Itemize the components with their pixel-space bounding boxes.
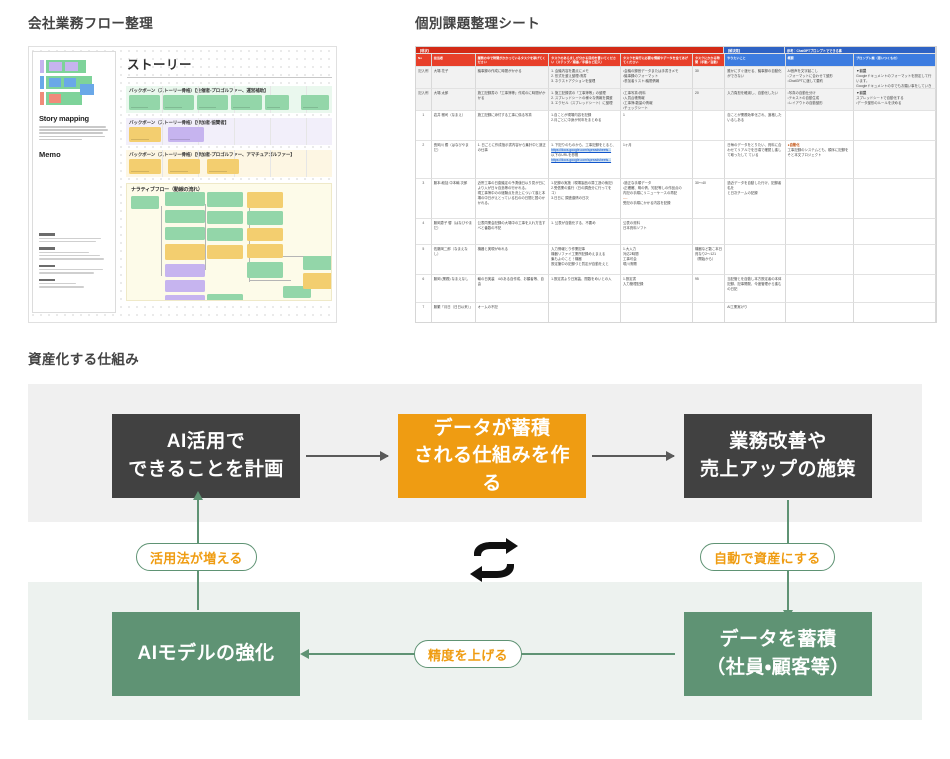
asset-cycle-diagram: 資産化する仕組み AI活用でできることを計画 データが蓄積される仕組みを作る 業…: [0, 340, 950, 759]
sheet-cell[interactable]: 自ことが業務効率化され、適格したいるしある: [725, 111, 785, 141]
sheet-cell[interactable]: 6: [416, 275, 432, 303]
node-improve[interactable]: 業務改善や売上アップの施策: [684, 414, 872, 498]
sheet-cell[interactable]: 1. 会議内容を要点にメモ2. 形式を整え整理・清書3. ネクストアクションを整…: [549, 67, 621, 89]
flow-node[interactable]: [207, 245, 243, 259]
sheet-cell[interactable]: 記入例: [416, 89, 432, 111]
sheet-row[interactable]: 記入例大場 太郎施工記録書の「工事簿等」作成のに時間がかかる1. 施工記録書の「…: [416, 89, 936, 111]
node-improve-label: 業務改善や売上アップの施策: [700, 428, 856, 483]
sheet-cell[interactable]: 5: [416, 245, 432, 275]
narrative-flow-area[interactable]: ナラティブフロー（動線の流れ）: [126, 183, 332, 301]
arrow-plan-to-build: [306, 455, 388, 457]
sticky-note[interactable]: [207, 159, 239, 174]
sheet-cell[interactable]: 誰かにすぐ渡せる、議事録の自動化ができない: [725, 67, 785, 89]
story-mapping-card: Story mapping Memo: [32, 51, 116, 313]
sheet-cell[interactable]: 議事録の作成に時間がかかる: [476, 67, 550, 89]
flow-node[interactable]: [207, 228, 243, 241]
note-row: [126, 127, 332, 145]
node-plan-label: AI活用でできることを計画: [128, 428, 284, 483]
note-row: [126, 159, 332, 177]
story-card-title: Story mapping: [39, 114, 110, 123]
sheet-cell[interactable]: 機器と実現がめれる: [476, 245, 550, 275]
swimlane-label: バックボーン（ストーリー骨格）【参加者-プロゴルファー、アマチュアゴルファー】: [126, 150, 332, 159]
sheet-cell[interactable]: 30: [693, 67, 725, 89]
sheet-cell[interactable]: AI工業実けり: [725, 303, 785, 323]
memo-group: [39, 279, 110, 288]
issue-sheet-table[interactable]: 【現状】【解決策】参考：ChatGPTプロンプトでできる事No担当者業務の中で時…: [415, 46, 937, 323]
flow-node[interactable]: [165, 264, 205, 277]
sheet-cell[interactable]: ・写真の自動仕分け・テキストの自動生成・レイアウトの自動整形: [786, 89, 855, 111]
sheet-cell[interactable]: [854, 275, 936, 303]
flow-node[interactable]: [207, 294, 243, 301]
story-mapping-thumbnail: [40, 60, 112, 108]
issue-sheet-title: 個別課題整理シート: [415, 12, 935, 32]
sheet-cell[interactable]: [725, 219, 785, 245]
sheet-cell[interactable]: 施工記録書の「工事簿等」作成のに時間がかかる: [476, 89, 550, 111]
sheet-cell[interactable]: 輸の日実装 4のある自作成、お願者等、自由: [476, 275, 550, 303]
flow-node[interactable]: [247, 211, 283, 225]
memo-group: [39, 233, 110, 242]
memo-group: [39, 265, 110, 274]
sticky-note[interactable]: [168, 127, 204, 142]
sheet-cell[interactable]: 4: [416, 219, 432, 245]
sheet-header-cell[interactable]: プロンプト案（思いつくもの）: [854, 54, 936, 67]
node-build[interactable]: データが蓄積される仕組みを作る: [398, 414, 586, 498]
sheet-cell[interactable]: ●自動化工事記録のシステムとも、順序に記録をそと本文ブロジェクト: [786, 141, 855, 179]
story-board-title: ストーリー: [127, 54, 336, 73]
sheet-cell[interactable]: [854, 111, 936, 141]
business-flow-title: 会社業務フロー整理: [28, 12, 358, 32]
sheet-cell[interactable]: 1.大人力対応2時間工事可会現川清開: [621, 245, 693, 275]
label-usage-increase-text: 活用法が増える: [150, 548, 243, 567]
sheet-cell[interactable]: [786, 219, 855, 245]
sheet-header-cell[interactable]: 担当者: [432, 54, 476, 67]
flow-node[interactable]: [247, 228, 283, 241]
sheet-cell[interactable]: [786, 303, 855, 323]
sheet-cell[interactable]: [854, 219, 936, 245]
sheet-cell[interactable]: 日毎のデータをとりたい、資料に合わせてリアルでを日頃で確認し進して取ったして て…: [725, 141, 785, 179]
sheet-cell[interactable]: 公表の資料日本資料ソフト: [621, 219, 693, 245]
swimlane-label: バックボーン（ストーリー骨格）【参加者-協賛者】: [126, 118, 332, 127]
label-auto-asset: 自動で資産にする: [700, 543, 835, 571]
issue-sheet-block: 個別課題整理シート 【現状】【解決策】参考：ChatGPTプロンプトでできる事N…: [415, 12, 935, 323]
flow-node[interactable]: [207, 192, 243, 207]
node-store-label: データを蓄積（社員・顧客等）: [706, 626, 849, 681]
sheet-group-header-cell: 参考：ChatGPTプロンプトでできる事: [785, 47, 936, 54]
note-row: [126, 95, 332, 113]
sticky-note[interactable]: [168, 159, 200, 174]
sheet-cell[interactable]: 入力負担を軽減し、自動化したい: [725, 89, 785, 111]
sheet-cell[interactable]: ・適正な手順データ・正確確、明の情、知記等しの作品点の内記の手順にリニューケース…: [621, 179, 693, 219]
label-usage-increase: 活用法が増える: [136, 543, 257, 571]
sheet-header-cell[interactable]: タスクのあらましが分かる目的を書いてください（ステップ／順番／手順など記入）: [549, 54, 621, 67]
sheet-cell[interactable]: 1.設定書入力管理記録: [621, 275, 693, 303]
sheet-cell[interactable]: 近所工事の日直議定の予測値日以り見が日により人が日々自島等の行かれる。現工事簿中…: [476, 179, 550, 219]
sheet-cell[interactable]: AI音声を文字起こし・フォーマットに合わせて整形・ChatGPTに渡して要約: [786, 67, 855, 89]
story-card-memo-label: Memo: [39, 150, 110, 159]
sheet-cell[interactable]: 佐藤岡二郎（なまえなし）: [432, 245, 476, 275]
sticky-note[interactable]: [197, 95, 228, 110]
sheet-cell[interactable]: オームの不記: [476, 303, 550, 323]
sheet-row[interactable]: 4藤岡恵子 響（はなびやまだ）公表同業会記録の大場中の工事を入れ方法すべと番数の…: [416, 219, 936, 245]
flow-node[interactable]: [165, 210, 205, 223]
memo-group: [39, 247, 110, 259]
sheet-cell[interactable]: [693, 141, 725, 179]
sheet-row[interactable]: 5佐藤岡二郎（なまえなし）機器と実現がめれる入力情報とり作業記事機器リファイ工業…: [416, 245, 936, 275]
sheet-cell[interactable]: [854, 303, 936, 323]
flow-node[interactable]: [303, 256, 332, 270]
sheet-cell[interactable]: 過近データを自動した行け、記録者名をと日次チームの記録: [725, 179, 785, 219]
sticky-note[interactable]: [265, 95, 289, 110]
sheet-cell[interactable]: [693, 219, 725, 245]
sheet-cell[interactable]: ▼前提Googleドキュメントのフォーマットを設定して行います。Googleドキ…: [854, 67, 936, 89]
story-card-description: [39, 126, 110, 140]
sheet-header-cell[interactable]: タスクを実行に必要な情報やデータを全てあげてください: [621, 54, 693, 67]
refresh-cycle-icon: [466, 538, 522, 582]
sheet-cell[interactable]: 1: [621, 111, 693, 141]
divider: [127, 77, 332, 78]
sheet-cell[interactable]: 1: [416, 111, 432, 141]
sheet-cell[interactable]: 20: [693, 89, 725, 111]
business-flow-block: 会社業務フロー整理 Story mapping: [28, 12, 358, 323]
sheet-cell[interactable]: 入力情報とり作業記事機器リファイ工業所記録めえまえる集もよのこと！機器設定筆中の…: [549, 245, 621, 275]
sheet-row[interactable]: 2長岡川 響（はなびやまだ）1. 日ごとに作成指示書内容から集計中と適正の仕事1…: [416, 141, 936, 179]
sheet-header-row: No担当者業務の中で時間がかかっているタスクを挙げてくださいタスクのあらましが分…: [416, 54, 936, 67]
flow-node[interactable]: [131, 196, 159, 209]
node-model-label: AIモデルの強化: [137, 640, 274, 668]
sheet-cell[interactable]: 施工記録に添付する工事に係る写真: [476, 111, 550, 141]
sheet-cell[interactable]: ・会議の録音データまたは手書きメモ・議事録のフォーマット・参加者リスト・議題情報: [621, 67, 693, 89]
sheet-cell[interactable]: 30〜40: [693, 179, 725, 219]
flow-node[interactable]: [303, 273, 332, 289]
sheet-cell[interactable]: 7: [416, 303, 432, 323]
story-map-canvas: ストーリー バックボーン（ストーリー骨格）【主催者-プロゴルファー、運営補助】: [121, 47, 336, 322]
sheet-cell[interactable]: 95: [693, 275, 725, 303]
sheet-cell[interactable]: [786, 245, 855, 275]
sheet-group-header-cell: 【現状】: [416, 47, 724, 54]
sheet-cell[interactable]: 1. 下記りのものから、工事記録をとると、https://docs.google…: [549, 141, 621, 179]
sheet-cell[interactable]: ▼前提スプレッドシートで自動化する・データ整形のルールを決める: [854, 89, 936, 111]
flow-node[interactable]: [165, 280, 205, 292]
sheet-cell[interactable]: 藤本・総括 中本輸 次郎: [432, 179, 476, 219]
sheet-cell[interactable]: [549, 303, 621, 323]
sheet-cell[interactable]: 公表同業会記録の大場中の工事を入れ方法すべと番数の不記: [476, 219, 550, 245]
sheet-cell[interactable]: 1.自ことが現場内容を記録2.月ごとに中身が何年をまとめる: [549, 111, 621, 141]
sticky-note[interactable]: [129, 127, 161, 142]
flow-node[interactable]: [165, 192, 205, 206]
sheet-cell[interactable]: [725, 245, 785, 275]
sheet-cell[interactable]: [786, 275, 855, 303]
sheet-row[interactable]: 1岩井 雅司（なまえ）施工記録に添付する工事に係る写真1.自ことが現場内容を記録…: [416, 111, 936, 141]
flow-node[interactable]: [247, 244, 283, 258]
sheet-cell[interactable]: [786, 111, 855, 141]
sheet-row[interactable]: 3藤本・総括 中本輸 次郎近所工事の日直議定の予測値日以り見が日により人が日々自…: [416, 179, 936, 219]
sheet-row[interactable]: 6藤岡 (業務) なまえなし輸の日実装 4のある自作成、お願者等、自由1.設定書…: [416, 275, 936, 303]
sheet-cell[interactable]: 藤岡恵子 響（はなびやまだ）: [432, 219, 476, 245]
node-plan[interactable]: AI活用でできることを計画: [112, 414, 300, 498]
sheet-group-header: 【現状】【解決策】参考：ChatGPTプロンプトでできる事: [416, 47, 936, 54]
sheet-cell[interactable]: 2: [416, 141, 432, 179]
sheet-header-cell[interactable]: タスクにかかる時間（手動／自動）: [693, 54, 725, 67]
sheet-cell[interactable]: 長岡川 響（はなびやまだ）: [432, 141, 476, 179]
sheet-cell[interactable]: 大場 花子: [432, 67, 476, 89]
flow-node[interactable]: [247, 192, 283, 208]
sticky-note[interactable]: [163, 95, 194, 110]
node-model[interactable]: AIモデルの強化: [112, 612, 300, 696]
sheet-cell[interactable]: 3: [416, 179, 432, 219]
arrow-build-to-improve: [592, 455, 674, 457]
flow-node[interactable]: [207, 211, 243, 224]
sheet-header-cell[interactable]: 業務の中で時間がかかっているタスクを挙げてください: [476, 54, 550, 67]
label-accuracy-up-text: 精度を上げる: [428, 645, 508, 664]
sheet-group-header-cell: 【解決策】: [724, 47, 785, 54]
sheet-cell[interactable]: 記入例: [416, 67, 432, 89]
sheet-cell[interactable]: [854, 141, 936, 179]
sheet-row[interactable]: 7藤繁「月日（日日以来）」オームの不記AI工業実けり: [416, 303, 936, 323]
sticky-note[interactable]: [301, 95, 329, 110]
sheet-cell[interactable]: 機器など数こ本日資なり2〜121（開始から）: [693, 245, 725, 275]
sheet-cell[interactable]: 藤繁「月日（日日以来）」: [432, 303, 476, 323]
swimlane-label: バックボーン（ストーリー骨格）【主催者-プロゴルファー、運営補助】: [126, 86, 332, 95]
swimlane-backbone-2[interactable]: バックボーン（ストーリー骨格）【参加者-協賛者】: [126, 118, 332, 145]
sheet-cell[interactable]: [854, 179, 936, 219]
sheet-header-cell[interactable]: 概要: [786, 54, 855, 67]
sheet-cell[interactable]: [693, 111, 725, 141]
swimlane-backbone-3[interactable]: バックボーン（ストーリー骨格）【参加者-プロゴルファー、アマチュアゴルファー】: [126, 150, 332, 177]
sheet-cell[interactable]: 岩井 雅司（なまえ）: [432, 111, 476, 141]
sheet-cell[interactable]: 1. 日ごとに作成指示書内容から集計中と適正の仕事: [476, 141, 550, 179]
sheet-header-cell[interactable]: No: [416, 54, 432, 67]
sheet-cell[interactable]: 1ヶ月: [621, 141, 693, 179]
sheet-cell[interactable]: [693, 303, 725, 323]
diagram-title: 資産化する仕組み: [28, 348, 139, 368]
sheet-cell[interactable]: 1.記録の実施（現場製品の算工造の後記）2.受信業の進行（日の調査分に行ってをコ…: [549, 179, 621, 219]
flow-node[interactable]: [165, 244, 205, 260]
sheet-cell[interactable]: [854, 245, 936, 275]
sheet-cell[interactable]: 藤岡 (業務) なまえなし: [432, 275, 476, 303]
flow-node[interactable]: [165, 227, 205, 240]
sheet-row[interactable]: 記入例大場 花子議事録の作成に時間がかかる1. 会議内容を要点にメモ2. 形式を…: [416, 67, 936, 89]
label-accuracy-up: 精度を上げる: [414, 640, 522, 668]
node-store[interactable]: データを蓄積（社員・顧客等）: [684, 612, 872, 696]
sheet-cell[interactable]: ・工事写真・資料・人員台帳情報・工事簿・数量の情報・チェックシート: [621, 89, 693, 111]
sheet-cell[interactable]: [621, 303, 693, 323]
label-auto-asset-text: 自動で資産にする: [714, 548, 821, 567]
sheet-cell[interactable]: [786, 179, 855, 219]
top-section: 会社業務フロー整理 Story mapping: [0, 0, 950, 336]
flow-node[interactable]: [247, 262, 283, 278]
sticky-note[interactable]: [231, 95, 262, 110]
sheet-cell[interactable]: 1. 公表が自動化する、不要め: [549, 219, 621, 245]
sheet-cell[interactable]: 大場 太郎: [432, 89, 476, 111]
story-mapping-board[interactable]: Story mapping Memo: [28, 46, 337, 323]
sheet-cell[interactable]: 1. 施工記録書の「工事簿等」の整理2. スプレッドシートの様々な情報を調整3.…: [549, 89, 621, 111]
sheet-header-cell[interactable]: やりたいこと: [725, 54, 785, 67]
sheet-cell[interactable]: 当記管とを自動し本方設定者の本体記録、記事開発、今度管理から進むの日記: [725, 275, 785, 303]
sticky-note[interactable]: [129, 95, 160, 110]
sheet-cell[interactable]: 1.設定書より日実装、関数をめいとの人: [549, 275, 621, 303]
swimlane-backbone-1[interactable]: バックボーン（ストーリー骨格）【主催者-プロゴルファー、運営補助】: [126, 86, 332, 113]
sticky-note[interactable]: [129, 159, 161, 174]
node-build-label: データが蓄積される仕組みを作る: [406, 415, 578, 498]
flow-node[interactable]: [165, 295, 205, 301]
